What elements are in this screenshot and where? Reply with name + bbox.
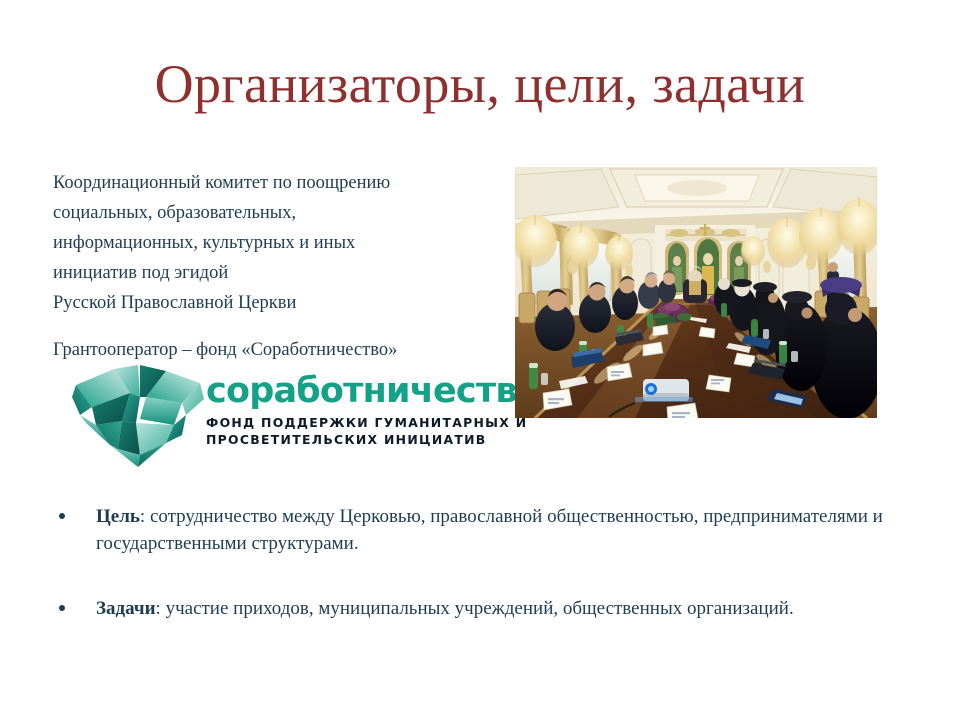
organizer-line: информационных, культурных и иных (53, 228, 513, 258)
logo-tagline-line1: ФОНД ПОДДЕРЖКИ ГУМАНИТАРНЫХ И (206, 415, 506, 432)
foundation-logo: соработничество ФОНД ПОДДЕРЖКИ ГУМАНИТАР… (70, 363, 510, 471)
organizer-line: социальных, образовательных, (53, 198, 513, 228)
list-item: Задачи: участие приходов, муниципальных … (53, 595, 913, 622)
bullet-text: участие приходов, муниципальных учрежден… (161, 598, 794, 619)
bullet-dot-icon (59, 513, 65, 519)
grant-operator-text: Грантооператор – фонд «Соработничество» (53, 336, 397, 364)
page-title: Организаторы, цели, задачи (0, 52, 960, 116)
organizer-line: Русской Православной Церкви (53, 288, 513, 318)
organizer-paragraph: Координационный комитет по поощрению соц… (53, 168, 513, 318)
bullet-dot-icon (59, 605, 65, 611)
logo-wordmark: соработничество (206, 371, 506, 411)
list-item: Цель: сотрудничество между Церковью, пра… (53, 503, 913, 557)
goals-bullet-list: Цель: сотрудничество между Церковью, пра… (53, 503, 913, 622)
heart-facets-icon (70, 363, 206, 469)
logo-text-block: соработничество ФОНД ПОДДЕРЖКИ ГУМАНИТАР… (206, 371, 506, 448)
bullet-lead-label: Цель (96, 506, 140, 527)
logo-tagline-line2: ПРОСВЕТИТЕЛЬСКИХ ИНИЦИАТИВ (206, 432, 506, 449)
organizer-line: Координационный комитет по поощрению (53, 168, 513, 198)
presentation-slide: Организаторы, цели, задачи Координационн… (0, 0, 960, 720)
logo-tagline: ФОНД ПОДДЕРЖКИ ГУМАНИТАРНЫХ И ПРОСВЕТИТЕ… (206, 415, 506, 448)
bullet-text: сотрудничество между Церковью, православ… (96, 506, 883, 554)
bullet-lead-label: Задачи (96, 598, 156, 619)
organizer-line: инициатив под эгидой (53, 258, 513, 288)
council-meeting-hall-photo (515, 167, 877, 418)
